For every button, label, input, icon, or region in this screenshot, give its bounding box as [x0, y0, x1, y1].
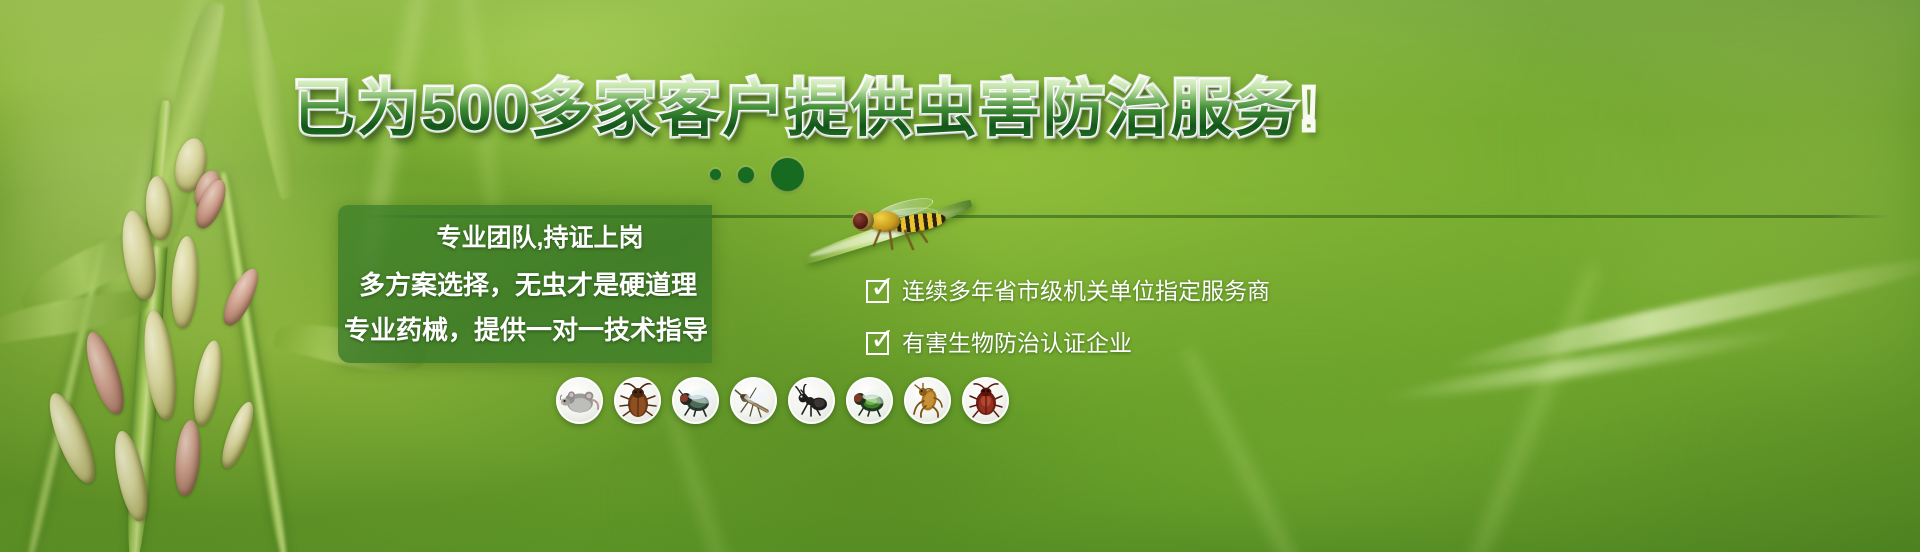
hoverfly-leg: [904, 230, 915, 251]
hoverfly-head: [852, 210, 874, 231]
hoverfly-leg: [889, 230, 894, 250]
housefly-icon[interactable]: [672, 377, 719, 424]
hoverfly-leg: [918, 229, 929, 243]
list-item: ✓ 有害生物防治认证企业: [866, 324, 1270, 362]
checklist-label: 连续多年省市级机关单位指定服务商: [902, 280, 1270, 303]
list-item: ✓ 连续多年省市级机关单位指定服务商: [866, 272, 1270, 310]
checkbox-checked-icon: ✓: [866, 280, 889, 303]
rat-icon[interactable]: [556, 377, 603, 424]
selling-point-line-3: 专业药械，提供一对一技术指导: [338, 317, 712, 343]
selling-point-line-2: 多方案选择，无虫才是硬道理: [338, 272, 712, 298]
blowfly-icon[interactable]: [846, 377, 893, 424]
checklist-label: 有害生物防治认证企业: [902, 332, 1132, 355]
pest-control-promo-banner: 已为500多家客户提供虫害防治服务! 已为500多家客户提供虫害防治服务! 专业…: [0, 0, 1920, 552]
ant-icon[interactable]: [788, 377, 835, 424]
bedbug-icon[interactable]: [962, 377, 1009, 424]
pest-type-icon-strip: [556, 377, 1009, 424]
page-title: 已为500多家客户提供虫害防治服务!: [293, 76, 1303, 144]
dot-large-icon: [771, 158, 804, 191]
flea-icon[interactable]: [904, 377, 951, 424]
checkbox-checked-icon: ✓: [866, 332, 889, 355]
hoverfly-icon: [846, 201, 946, 247]
cockroach-icon[interactable]: [614, 377, 661, 424]
decorative-dots: [710, 158, 804, 191]
selling-points-card: 专业团队,持证上岗 多方案选择，无虫才是硬道理 专业药械，提供一对一技术指导: [338, 205, 712, 363]
hoverfly-eye: [853, 213, 868, 229]
dot-small-icon: [710, 169, 721, 180]
mosquito-icon[interactable]: [730, 377, 777, 424]
dot-medium-icon: [738, 167, 754, 183]
hoverfly-thorax: [870, 211, 900, 232]
hoverfly-leg: [873, 229, 882, 246]
certification-checklist: ✓ 连续多年省市级机关单位指定服务商 ✓ 有害生物防治认证企业: [866, 272, 1270, 376]
check-mark-glyph: ✓: [870, 327, 900, 353]
selling-point-line-1: 专业团队,持证上岗: [338, 226, 712, 251]
check-mark-glyph: ✓: [870, 275, 900, 301]
